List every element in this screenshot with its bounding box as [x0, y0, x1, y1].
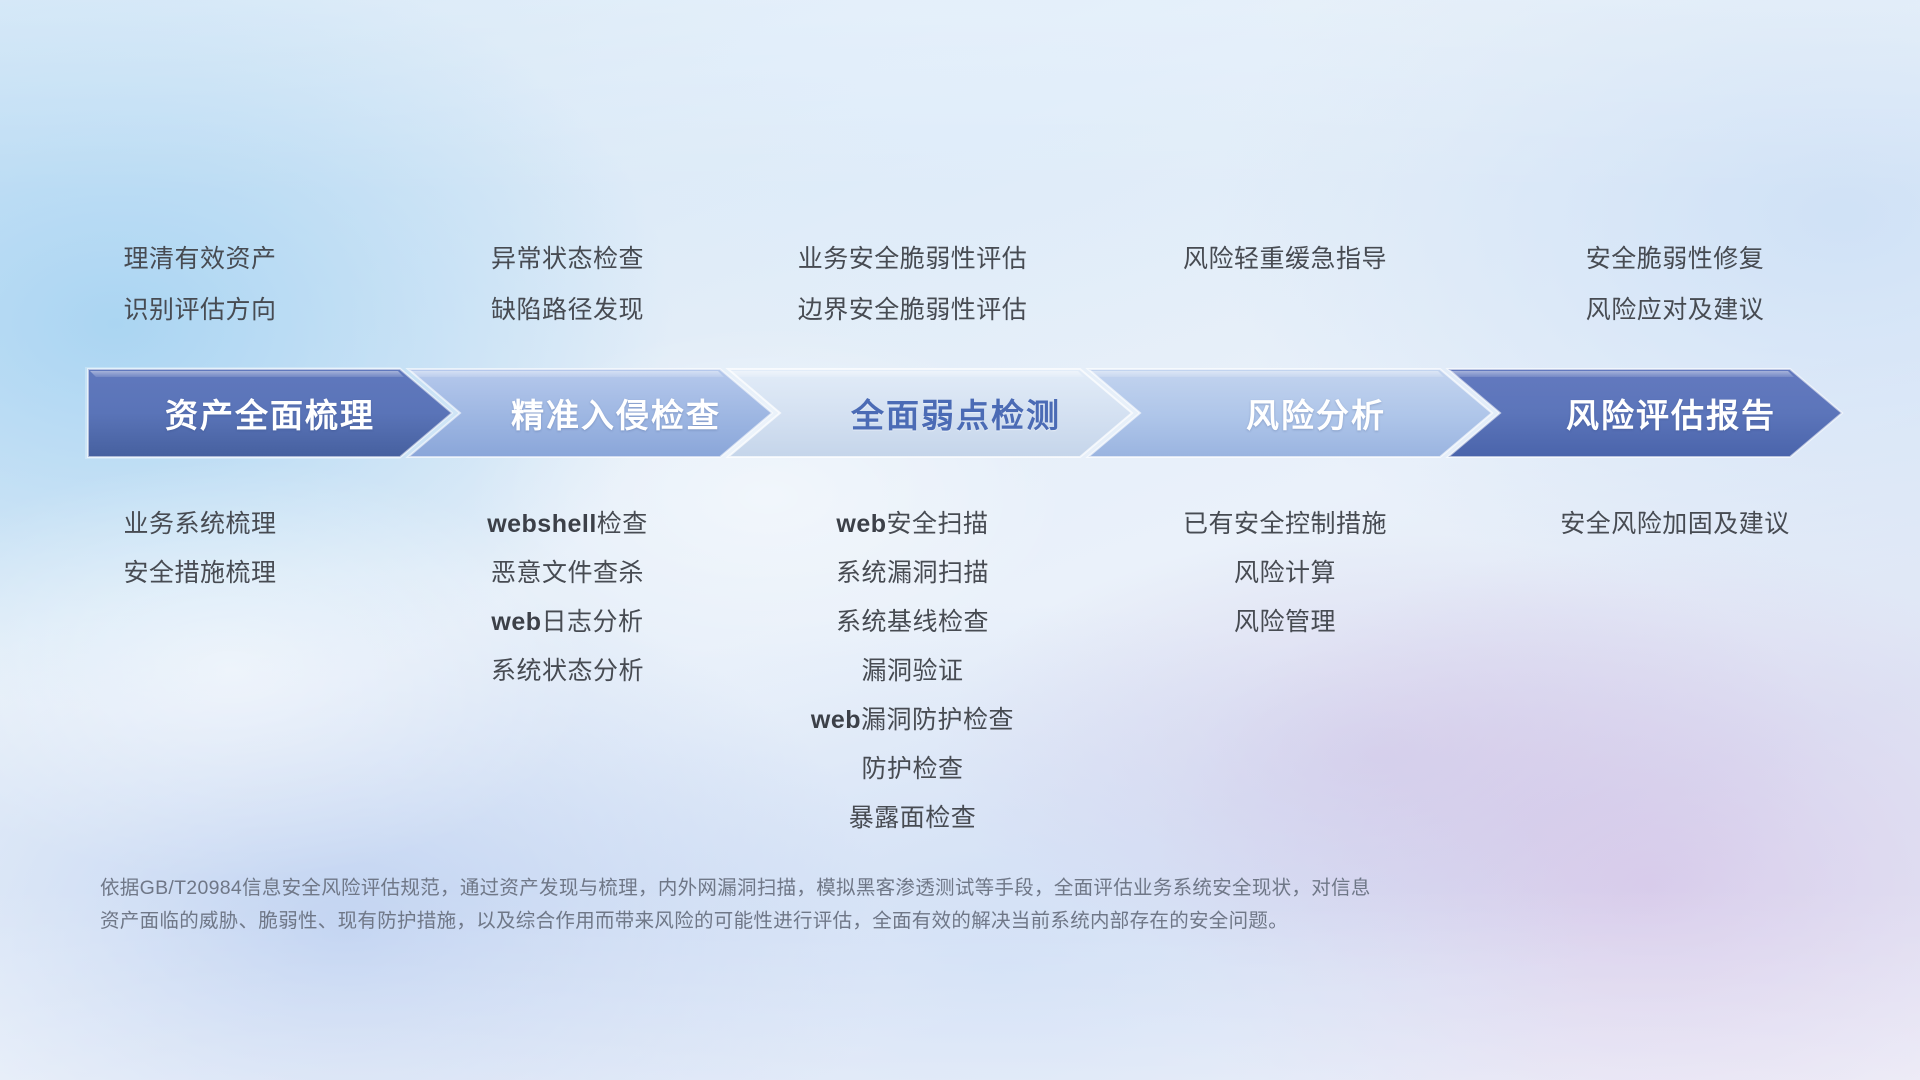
chevron-label-1[interactable]: 资产全面梳理 [88, 365, 452, 461]
bottom-item: 漏洞验证 [735, 647, 1090, 696]
bottom-item-rest: 风险计算 [1234, 559, 1336, 587]
bottom-item-rest: 系统漏洞扫描 [836, 559, 989, 587]
chevron-label-2[interactable]: 精准入侵检查 [460, 365, 772, 461]
top-item: 风险轻重缓急指导 [1090, 234, 1480, 285]
top-item: 业务安全脆弱性评估 [735, 234, 1090, 285]
top-item: 识别评估方向 [0, 285, 400, 336]
top-item: 安全脆弱性修复 [1480, 234, 1870, 285]
bottom-item: 系统状态分析 [400, 647, 735, 696]
bottom-item-rest: 安全风险加固及建议 [1560, 510, 1790, 538]
bottom-labels-col-5: 安全风险加固及建议 [1480, 500, 1870, 843]
top-labels-col-4: 风险轻重缓急指导 [1090, 234, 1480, 336]
bottom-item: web安全扫描 [735, 500, 1090, 549]
chevron-label-3[interactable]: 全面弱点检测 [780, 365, 1132, 461]
bottom-item-rest: 系统状态分析 [491, 657, 644, 685]
process-chevron-band: 资产全面梳理 精准入侵检查 全面弱点检测 风险分析 风险评估报告 [0, 365, 1920, 461]
bottom-item-rest: 风险管理 [1234, 608, 1336, 636]
top-labels-col-5: 安全脆弱性修复 风险应对及建议 [1480, 234, 1870, 336]
bottom-item-lead: web [491, 608, 541, 636]
bottom-item-lead: webshell [487, 510, 597, 538]
footer-description: 依据GB/T20984信息安全风险评估规范，通过资产发现与梳理，内外网漏洞扫描，… [100, 872, 1620, 938]
bottom-item-rest: 系统基线检查 [836, 608, 989, 636]
bottom-item: 恶意文件查杀 [400, 549, 735, 598]
top-labels-row: 理清有效资产 识别评估方向 异常状态检查 缺陷路径发现 业务安全脆弱性评估 边界… [0, 234, 1920, 336]
top-item: 边界安全脆弱性评估 [735, 285, 1090, 336]
top-labels-col-1: 理清有效资产 识别评估方向 [0, 234, 400, 336]
bottom-item: web日志分析 [400, 598, 735, 647]
bottom-item: 防护检查 [735, 745, 1090, 794]
bottom-item-lead: web [811, 706, 861, 734]
chevron-label-4[interactable]: 风险分析 [1140, 365, 1492, 461]
bottom-item: 已有安全控制措施 [1090, 500, 1480, 549]
bottom-item: 安全风险加固及建议 [1480, 500, 1870, 549]
chevron-label-5[interactable]: 风险评估报告 [1500, 365, 1842, 461]
footer-line-2: 资产面临的威胁、脆弱性、现有防护措施，以及综合作用而带来风险的可能性进行评估，全… [100, 905, 1620, 938]
top-item: 异常状态检查 [400, 234, 735, 285]
bottom-item: 安全措施梳理 [0, 549, 400, 598]
top-labels-col-3: 业务安全脆弱性评估 边界安全脆弱性评估 [735, 234, 1090, 336]
bottom-item: 业务系统梳理 [0, 500, 400, 549]
bottom-labels-col-3: web安全扫描 系统漏洞扫描 系统基线检查 漏洞验证 web漏洞防护检查 防护检… [735, 500, 1090, 843]
bottom-item-rest: 漏洞验证 [861, 657, 963, 685]
bottom-item: webshell检查 [400, 500, 735, 549]
bottom-item-rest: 安全扫描 [887, 510, 989, 538]
top-item: 缺陷路径发现 [400, 285, 735, 336]
bottom-item-lead: web [836, 510, 886, 538]
top-item: 风险应对及建议 [1480, 285, 1870, 336]
bottom-item: 暴露面检查 [735, 794, 1090, 843]
slide-canvas: 理清有效资产 识别评估方向 异常状态检查 缺陷路径发现 业务安全脆弱性评估 边界… [0, 0, 1920, 1080]
bottom-item-rest: 安全措施梳理 [123, 559, 276, 587]
bottom-item: 风险管理 [1090, 598, 1480, 647]
bottom-item: 系统基线检查 [735, 598, 1090, 647]
bottom-item-rest: 已有安全控制措施 [1183, 510, 1387, 538]
bottom-item-rest: 恶意文件查杀 [491, 559, 644, 587]
bottom-item-rest: 漏洞防护检查 [861, 706, 1014, 734]
bottom-item: web漏洞防护检查 [735, 696, 1090, 745]
bottom-labels-col-2: webshell检查 恶意文件查杀 web日志分析 系统状态分析 [400, 500, 735, 843]
bottom-labels-col-4: 已有安全控制措施 风险计算 风险管理 [1090, 500, 1480, 843]
bottom-item: 系统漏洞扫描 [735, 549, 1090, 598]
bottom-item-rest: 检查 [597, 510, 648, 538]
bottom-item-rest: 日志分析 [542, 608, 644, 636]
bottom-item-rest: 防护检查 [861, 755, 963, 783]
top-labels-col-2: 异常状态检查 缺陷路径发现 [400, 234, 735, 336]
bottom-item: 风险计算 [1090, 549, 1480, 598]
bottom-labels-col-1: 业务系统梳理 安全措施梳理 [0, 500, 400, 843]
top-item: 理清有效资产 [0, 234, 400, 285]
bottom-item-rest: 业务系统梳理 [123, 510, 276, 538]
bottom-labels-row: 业务系统梳理 安全措施梳理 webshell检查 恶意文件查杀 web日志分析 … [0, 500, 1920, 843]
footer-line-1: 依据GB/T20984信息安全风险评估规范，通过资产发现与梳理，内外网漏洞扫描，… [100, 872, 1620, 905]
bottom-item-rest: 暴露面检查 [849, 804, 977, 832]
